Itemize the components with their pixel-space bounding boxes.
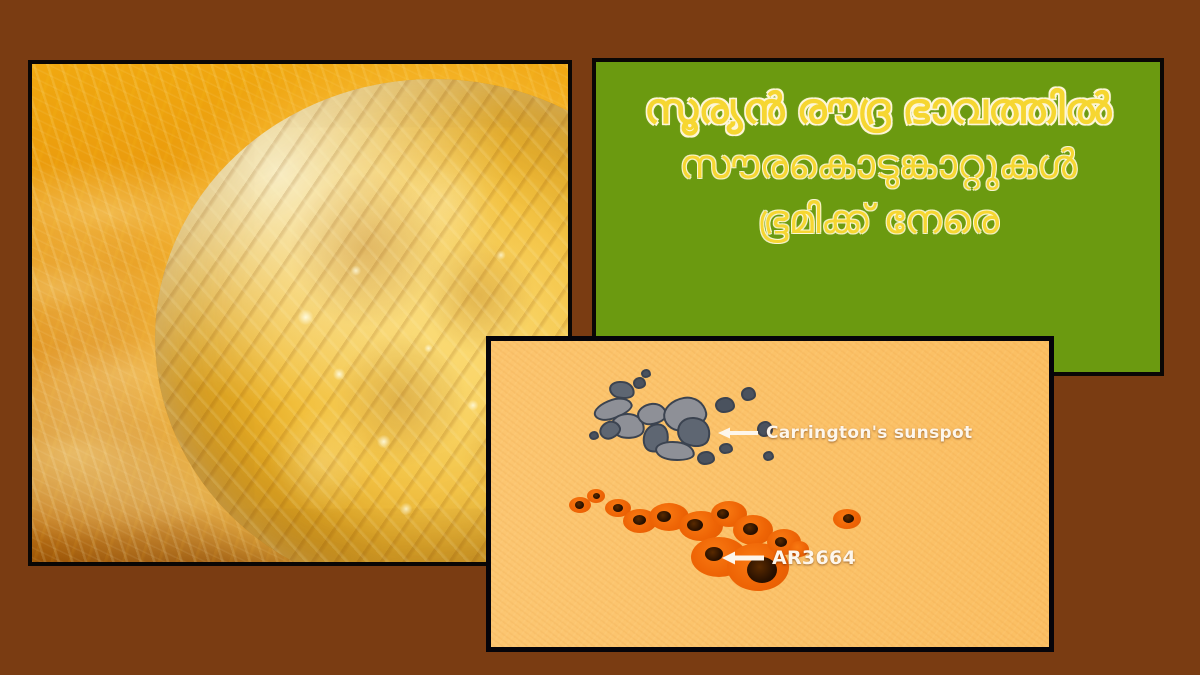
ar3664-callout-label: AR3664 — [772, 547, 856, 569]
sunspot-comparison-frame: Carrington's sunspot AR3664 — [486, 336, 1054, 652]
headline-panel: സൂര്യൻ രൗദ്ര ഭാവത്തിൽ സൗരകൊടുങ്കാറ്റുകൾ … — [592, 58, 1164, 376]
sunspot-comparison-photo: Carrington's sunspot AR3664 — [491, 341, 1049, 647]
ar3664-sunspot-group — [561, 481, 861, 599]
ar3664-callout: AR3664 — [721, 547, 856, 569]
carrington-callout-label: Carrington's sunspot — [766, 423, 972, 443]
headline-line-3: ഭൂമിക്ക് നേരെ — [757, 197, 999, 244]
news-card-canvas: സൂര്യൻ രൗദ്ര ഭാവത്തിൽ സൗരകൊടുങ്കാറ്റുകൾ … — [0, 0, 1200, 675]
arrow-left-icon — [717, 426, 759, 440]
headline-line-2: സൗരകൊടുങ്കാറ്റുകൾ — [679, 142, 1077, 189]
arrow-left-icon — [721, 550, 765, 566]
headline-line-1: സൂര്യൻ രൗദ്ര ഭാവത്തിൽ — [644, 84, 1111, 134]
carrington-callout: Carrington's sunspot — [717, 423, 972, 443]
